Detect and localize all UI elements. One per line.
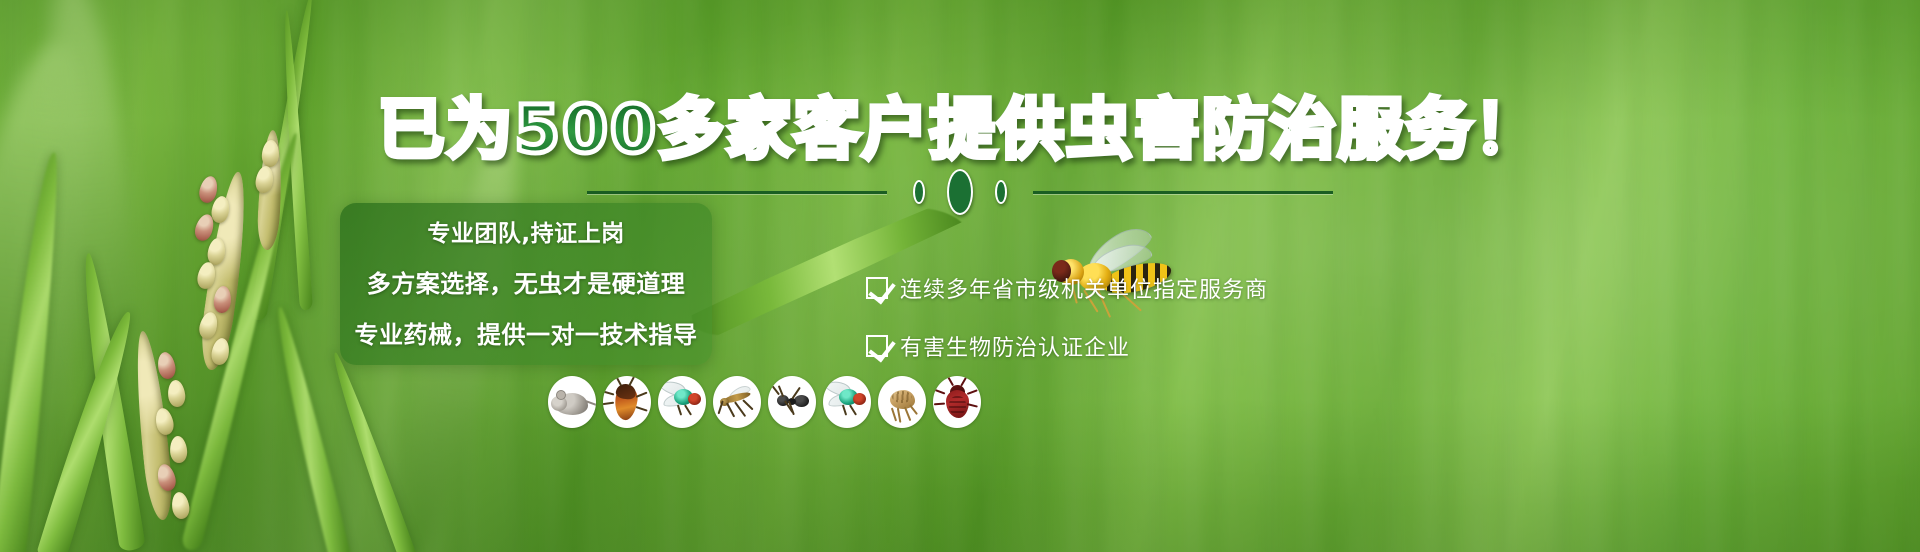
divider-line-left — [587, 191, 887, 194]
fly-icon — [658, 376, 706, 428]
panel-line-3: 专业药械，提供一对一技术指导 — [355, 315, 698, 350]
panel-line-1: 专业团队,持证上岗 — [427, 214, 624, 248]
promo-banner: 已为500多家客户提供虫害防治服务！ 专业团队,持证上岗 多方案选择，无虫才是硬… — [0, 0, 1920, 552]
panel-line-2: 多方案选择，无虫才是硬道理 — [367, 264, 686, 299]
decorative-divider — [0, 172, 1920, 212]
divider-line-right — [1033, 191, 1333, 194]
cockroach-icon — [603, 376, 651, 428]
mouse-icon — [548, 376, 596, 428]
dot-small-left — [913, 180, 925, 204]
checkbox-checked-icon — [866, 335, 888, 357]
checklist-item-label: 有害生物防治认证企业 — [900, 330, 1130, 362]
bedbug-icon — [933, 376, 981, 428]
mosquito-icon — [713, 376, 761, 428]
ant-icon — [768, 376, 816, 428]
dot-large-center — [947, 169, 973, 215]
divider-dots — [887, 169, 1033, 215]
checklist-item: 有害生物防治认证企业 — [866, 330, 1268, 362]
headline-text: 已为500多家客户提供虫害防治服务！ — [378, 76, 1542, 172]
banner-headline: 已为500多家客户提供虫害防治服务！ — [0, 76, 1920, 172]
benefits-panel: 专业团队,持证上岗 多方案选择，无虫才是硬道理 专业药械，提供一对一技术指导 — [340, 203, 712, 365]
fly-icon — [823, 376, 871, 428]
credentials-checklist: 连续多年省市级机关单位指定服务商 有害生物防治认证企业 — [866, 272, 1268, 362]
pest-icon-row — [548, 376, 981, 428]
checkbox-checked-icon — [866, 277, 888, 299]
checklist-item: 连续多年省市级机关单位指定服务商 — [866, 272, 1268, 304]
checklist-item-label: 连续多年省市级机关单位指定服务商 — [900, 272, 1268, 304]
flea-icon — [878, 376, 926, 428]
dot-small-right — [995, 180, 1007, 204]
